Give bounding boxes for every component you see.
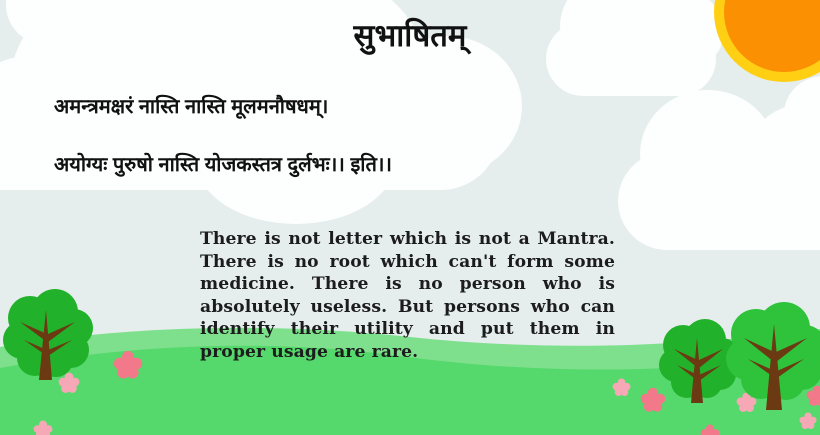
page-title: सुभाषितम् xyxy=(0,14,820,56)
translation-text: There is not letter which is not a Mantr… xyxy=(200,228,615,363)
flower-icon xyxy=(113,350,143,380)
shloka-line-2: अयोग्यः पुरुषो नास्ति योजकस्तत्र दुर्लभः… xyxy=(54,150,392,177)
shloka-line-1: अमन्त्रमक्षरं नास्ति नास्ति मूलमनौषधम्। xyxy=(54,92,328,119)
subhashitam-slide: सुभाषितम् अमन्त्रमक्षरं नास्ति नास्ति मू… xyxy=(0,0,820,435)
flower-icon xyxy=(700,424,720,435)
tree-left-icon xyxy=(2,288,94,398)
flower-icon xyxy=(33,420,53,435)
tree-right-large-icon xyxy=(726,302,820,427)
flower-icon xyxy=(612,378,631,397)
